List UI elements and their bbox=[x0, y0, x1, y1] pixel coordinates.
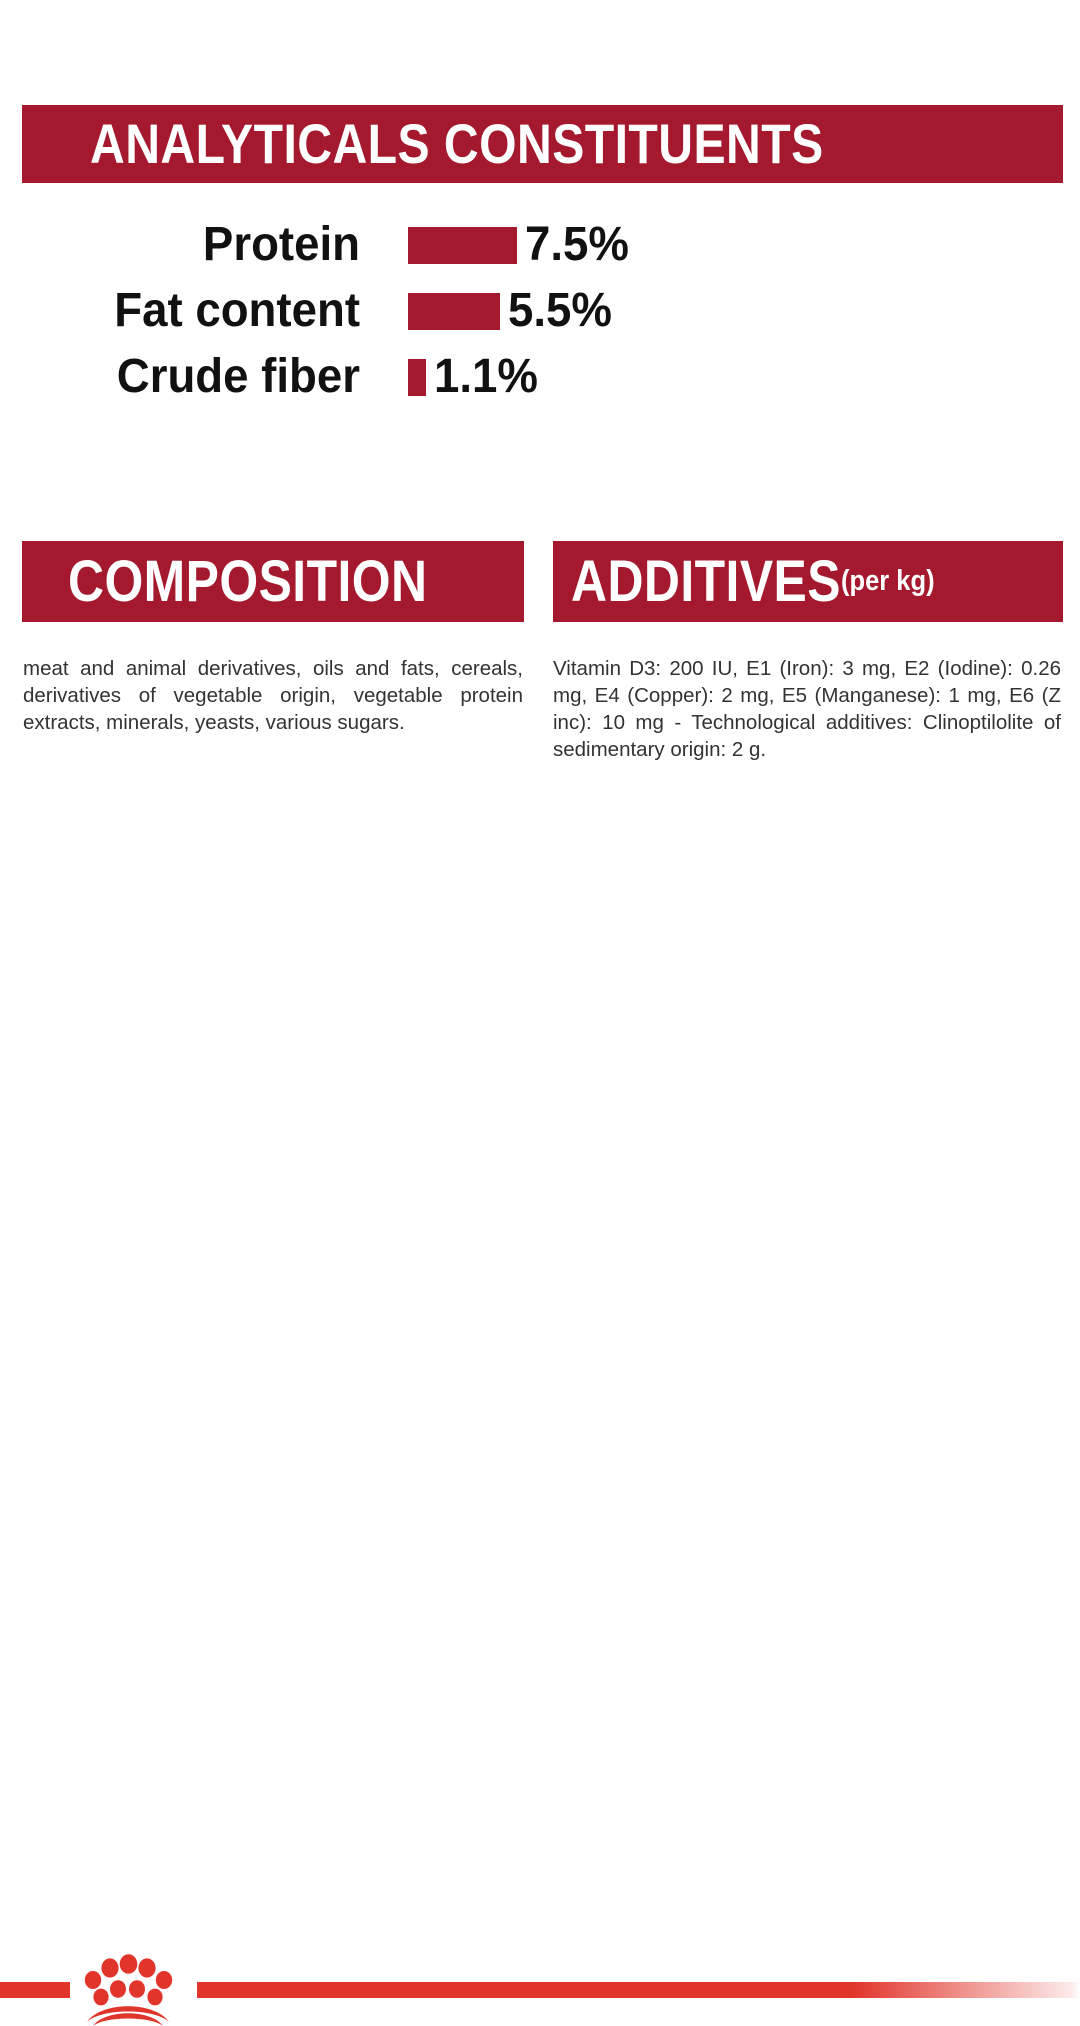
constituent-value-fat-content: 5.5% bbox=[508, 281, 612, 341]
analyticals-heading-text: ANALYTICALS CONSTITUENTS bbox=[90, 116, 824, 172]
analyticals-constituents-chart: Protein 7.5% Fat content 5.5% Crude fibe… bbox=[0, 215, 1080, 413]
footer-rule-right bbox=[197, 1982, 1080, 1998]
constituent-label-crude-fiber: Crude fiber bbox=[37, 347, 360, 407]
constituent-value-crude-fiber: 1.1% bbox=[434, 347, 538, 407]
additives-body-text: Vitamin D3: 200 IU, E1 (Iron): 3 mg, E2 … bbox=[553, 655, 1061, 763]
constituent-bar-crude-fiber bbox=[408, 359, 426, 396]
analyticals-heading-band: ANALYTICALS CONSTITUENTS bbox=[22, 105, 1063, 183]
composition-heading-band: COMPOSITION bbox=[22, 541, 524, 622]
additives-heading-text: ADDITIVES bbox=[571, 553, 841, 611]
constituent-bar-fat-content bbox=[408, 293, 500, 330]
constituent-bar-group-protein: 7.5% bbox=[408, 215, 634, 275]
constituent-value-protein: 7.5% bbox=[525, 215, 629, 275]
constituent-row: Protein 7.5% bbox=[0, 215, 1080, 281]
constituent-row: Fat content 5.5% bbox=[0, 281, 1080, 347]
constituent-label-fat-content: Fat content bbox=[37, 281, 360, 341]
additives-heading-band: ADDITIVES (per kg) bbox=[553, 541, 1063, 622]
constituent-label-protein: Protein bbox=[37, 215, 360, 275]
composition-body-text: meat and animal derivatives, oils and fa… bbox=[23, 655, 523, 736]
constituent-bar-group-fat-content: 5.5% bbox=[408, 281, 617, 341]
constituent-row: Crude fiber 1.1% bbox=[0, 347, 1080, 413]
royal-canin-crown-icon bbox=[73, 1946, 183, 2026]
product-label-panel: ANALYTICALS CONSTITUENTS Protein 7.5% Fa… bbox=[0, 0, 1080, 1080]
additives-heading-subtext: (per kg) bbox=[841, 567, 935, 596]
footer-rule-left bbox=[0, 1982, 70, 1998]
constituent-bar-protein bbox=[408, 227, 517, 264]
constituent-bar-group-crude-fiber: 1.1% bbox=[408, 347, 543, 407]
composition-heading-text: COMPOSITION bbox=[68, 553, 427, 611]
brand-footer bbox=[0, 960, 1080, 1080]
